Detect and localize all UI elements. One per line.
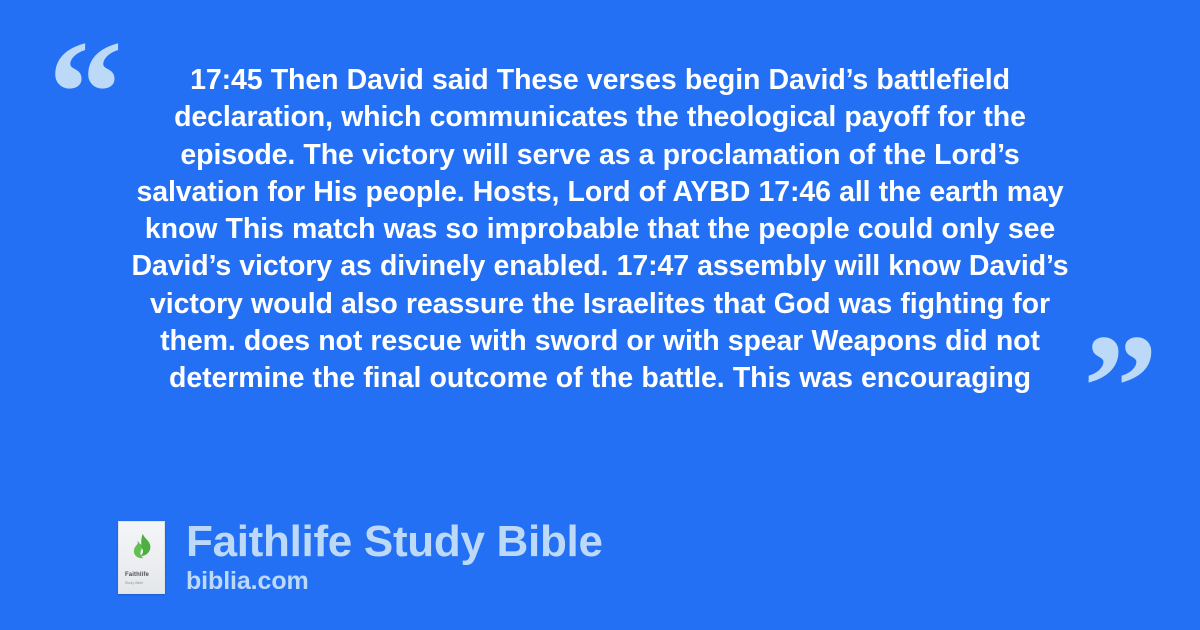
quote-card: “ 17:45 Then David said These verses beg… (0, 0, 1200, 630)
site-url[interactable]: biblia.com (186, 566, 603, 596)
closing-quote-icon: ” (1083, 312, 1156, 462)
faithlife-flame-icon (131, 533, 153, 559)
footer-attribution: Faithlife Study Bible Faithlife Study Bi… (118, 519, 603, 596)
footer-text-block: Faithlife Study Bible biblia.com (186, 519, 603, 596)
quote-text: 17:45 Then David said These verses begin… (130, 62, 1070, 398)
quote-area: 17:45 Then David said These verses begin… (0, 62, 1200, 422)
site-title: Faithlife Study Bible (186, 519, 603, 565)
book-cover-thumbnail: Faithlife Study Bible (118, 521, 165, 594)
book-cover-subtitle: Study Bible (125, 582, 143, 585)
book-cover-brand: Faithlife (125, 572, 149, 578)
